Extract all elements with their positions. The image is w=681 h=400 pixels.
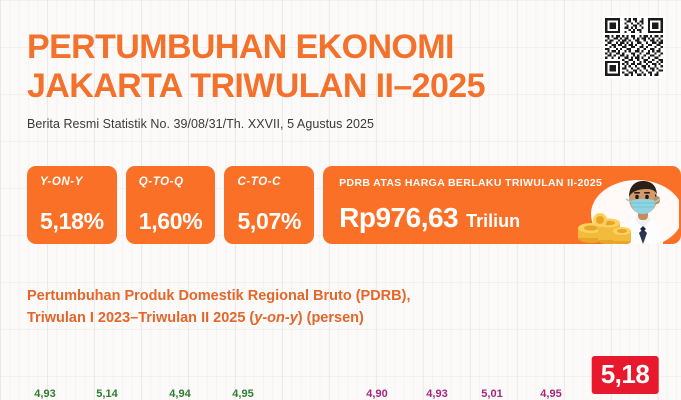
chart-data-labels: 4,935,144,944,954,904,935,014,955,18 — [0, 352, 681, 400]
chart-heading-line1: Pertumbuhan Produk Domestik Regional Bru… — [27, 286, 547, 308]
stat-card-value: 5,18% — [40, 210, 104, 233]
stat-card-label: Y-ON-Y — [40, 176, 104, 188]
pdrb-card-value: Rp976,63 — [339, 204, 458, 232]
page-title-line2: JAKARTA TRIWULAN II–2025 — [27, 67, 587, 106]
masked-businessman-with-gold-coins-illustration — [575, 166, 679, 244]
infographic-page: PERTUMBUHAN EKONOMI JAKARTA TRIWULAN II–… — [0, 0, 681, 400]
chart-heading-line2: Triwulan I 2023–Triwulan II 2025 (y-on-y… — [27, 308, 547, 330]
chart-data-label: 5,01 — [481, 388, 502, 400]
chart-data-label: 4,94 — [169, 388, 190, 400]
chart-heading-line2-b: ) (persen) — [298, 310, 364, 326]
qr-code-icon[interactable] — [603, 16, 665, 78]
page-title-line1: PERTUMBUHAN EKONOMI — [27, 28, 587, 67]
chart: 4,935,144,944,954,904,935,014,955,18 — [0, 352, 681, 400]
chart-heading-line2-a: Triwulan I 2023–Triwulan II 2025 ( — [27, 310, 254, 326]
chart-data-label: 4,93 — [34, 388, 55, 400]
chart-heading: Pertumbuhan Produk Domestik Regional Bru… — [27, 286, 547, 330]
chart-highlight-badge: 5,18 — [592, 356, 659, 394]
pdrb-card-unit: Triliun — [466, 212, 520, 230]
stat-cards-row: Y-ON-Y 5,18% Q-TO-Q 1,60% C-TO-C 5,07% P… — [27, 166, 681, 244]
pdrb-card[interactable]: PDRB ATAS HARGA BERLAKU TRIWULAN II-2025… — [323, 166, 681, 244]
stat-card-value: 5,07% — [237, 210, 301, 233]
chart-data-label: 4,90 — [366, 388, 387, 400]
stat-card-qtoq[interactable]: Q-TO-Q 1,60% — [126, 166, 216, 244]
stat-card-ctoc[interactable]: C-TO-C 5,07% — [224, 166, 314, 244]
page-subtitle: Berita Resmi Statistik No. 39/08/31/Th. … — [27, 117, 587, 131]
header: PERTUMBUHAN EKONOMI JAKARTA TRIWULAN II–… — [27, 28, 587, 131]
chart-data-label: 4,95 — [232, 388, 253, 400]
chart-data-label: 5,14 — [96, 388, 117, 400]
chart-data-label: 4,95 — [540, 388, 561, 400]
chart-data-label: 4,93 — [426, 388, 447, 400]
chart-heading-yony-em: y-on-y — [254, 310, 298, 326]
stat-card-label: C-TO-C — [237, 176, 301, 188]
stat-card-label: Q-TO-Q — [139, 176, 203, 188]
stat-card-value: 1,60% — [139, 210, 203, 233]
stat-card-yony[interactable]: Y-ON-Y 5,18% — [27, 166, 117, 244]
